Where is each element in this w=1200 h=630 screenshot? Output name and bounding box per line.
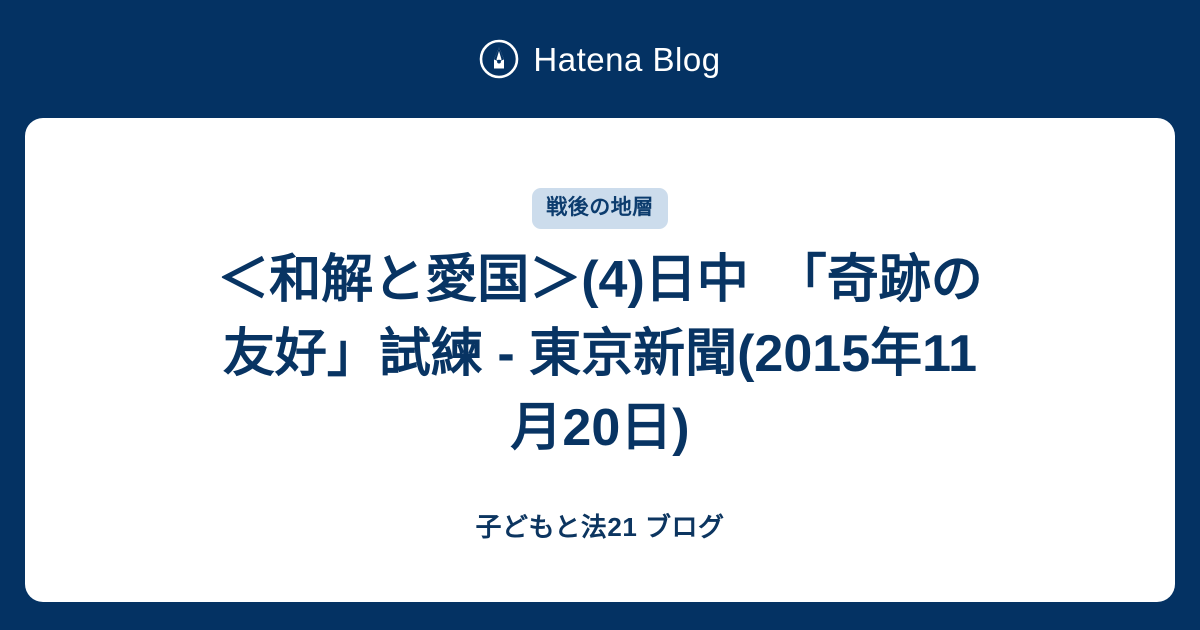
entry-title: ＜和解と愛国＞(4)日中 「奇跡の友好」試練 - 東京新聞(2015年11月20… (150, 243, 1050, 465)
open-graph-card: Hatena Blog 戦後の地層 ＜和解と愛国＞(4)日中 「奇跡の友好」試練… (0, 0, 1200, 630)
pen-nib-circle-icon (479, 39, 519, 79)
entry-card: 戦後の地層 ＜和解と愛国＞(4)日中 「奇跡の友好」試練 - 東京新聞(2015… (25, 118, 1175, 602)
blog-name-label: 子どもと法21 ブログ (25, 514, 1175, 540)
brand-name-label: Hatena Blog (533, 43, 720, 76)
hatena-blog-brand: Hatena Blog (0, 0, 1200, 118)
category-badge[interactable]: 戦後の地層 (532, 188, 668, 229)
